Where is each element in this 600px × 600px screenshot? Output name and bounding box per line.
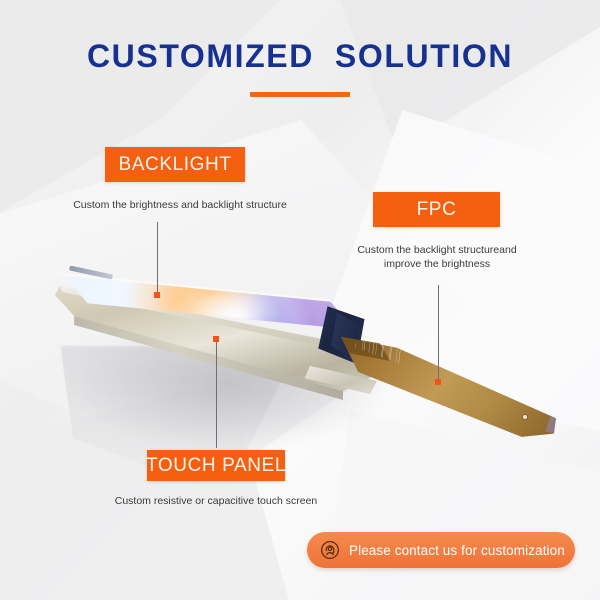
lcd-display-module <box>55 250 555 450</box>
support-headset-icon <box>320 540 340 560</box>
fpc-alignment-hole <box>523 415 527 419</box>
leader-line-fpc <box>438 285 439 382</box>
caption-backlight: Custom the brightness and backlight stru… <box>45 198 315 212</box>
leader-line-backlight <box>157 222 158 294</box>
square-marker-icon-fpc <box>435 379 441 385</box>
caption-touch-panel: Custom resistive or capacitive touch scr… <box>96 494 336 508</box>
promo-banner: CUSTOMIZED SOLUTION BACKLIGHT Custom the… <box>0 0 600 600</box>
badge-touch-panel[interactable]: TOUCH PANEL <box>147 450 285 481</box>
title-underline-rule <box>250 92 350 97</box>
page-title: CUSTOMIZED SOLUTION <box>0 38 600 75</box>
caption-fpc: Custom the backlight structureand improv… <box>351 243 523 271</box>
badge-backlight[interactable]: BACKLIGHT <box>105 147 245 182</box>
square-marker-icon-backlight <box>154 292 160 298</box>
contact-us-button[interactable]: Please contact us for customization <box>307 532 575 568</box>
leader-line-touch-panel <box>216 341 217 448</box>
badge-fpc[interactable]: FPC <box>373 192 500 227</box>
square-marker-icon-touch-panel <box>213 336 219 342</box>
contact-us-label: Please contact us for customization <box>349 543 565 558</box>
